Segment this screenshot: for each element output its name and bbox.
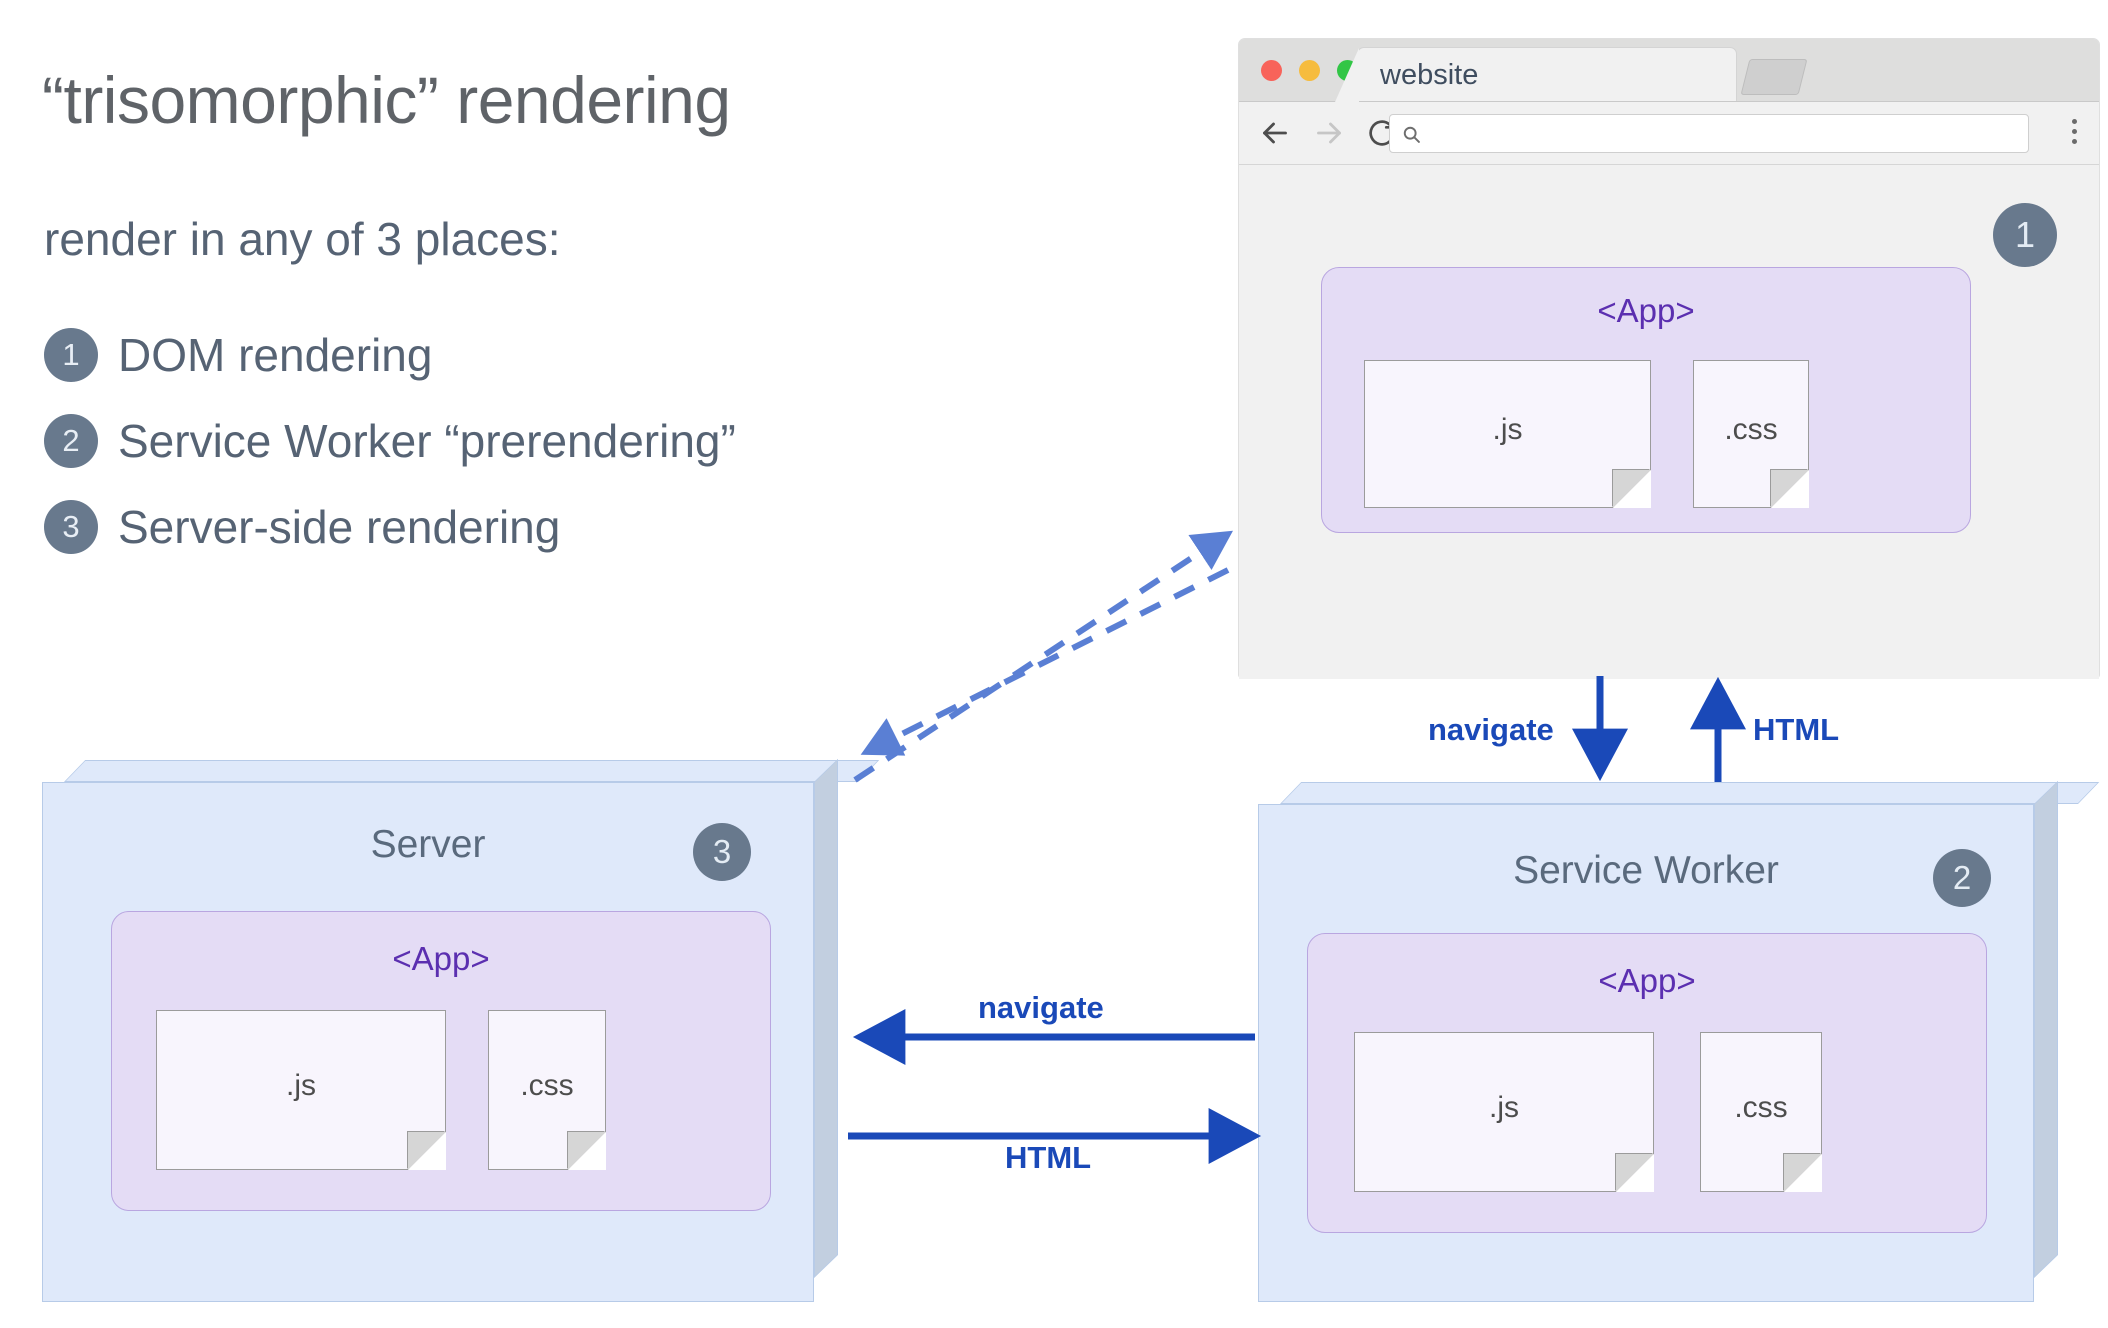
app-card-title: <App> (1308, 962, 1986, 1000)
js-file: .js (1354, 1032, 1654, 1192)
browser-toolbar (1239, 102, 2099, 165)
service-worker-title: Service Worker (1259, 849, 2033, 893)
box-top-face (1280, 782, 2099, 804)
service-worker-box: Service Worker 2 <App> .js .css (1258, 782, 2078, 1302)
page-fold-mask (1784, 1154, 1822, 1192)
minimize-window-icon[interactable] (1299, 60, 1320, 81)
server-step-badge: 3 (693, 823, 751, 881)
kebab-menu-icon[interactable] (2072, 119, 2077, 144)
back-arrow-icon[interactable] (1257, 115, 1293, 151)
css-file-label: .css (1701, 1091, 1821, 1125)
arrow-label-navigate-down: navigate (1428, 712, 1554, 748)
app-card-title: <App> (112, 940, 770, 978)
browser-tab-label: website (1380, 59, 1478, 92)
page-subtitle: render in any of 3 places: (44, 212, 561, 266)
js-file: .js (156, 1010, 446, 1170)
list-item-label: Service Worker “prerendering” (118, 414, 736, 468)
list-number-badge: 3 (44, 500, 98, 554)
box-side-face (814, 759, 838, 1278)
browser-tabbar: website (1239, 39, 2099, 102)
server-box: Server 3 <App> .js .css (42, 760, 862, 1300)
list-item: 3 Server-side rendering (44, 484, 1044, 570)
js-file-label: .js (1355, 1091, 1653, 1125)
list-item-label: DOM rendering (118, 328, 432, 382)
js-file-label: .js (1365, 413, 1650, 447)
arrow-label-html-up: HTML (1753, 712, 1839, 748)
js-file: .js (1364, 360, 1651, 508)
app-card-service-worker: <App> .js .css (1307, 933, 1987, 1233)
list-number-badge: 1 (44, 328, 98, 382)
browser-step-badge: 1 (1993, 203, 2057, 267)
search-icon (1401, 124, 1422, 150)
arrow-label-navigate-left: navigate (978, 990, 1104, 1026)
page-fold-mask (1616, 1154, 1654, 1192)
close-window-icon[interactable] (1261, 60, 1282, 81)
browser-tab[interactable]: website (1357, 47, 1737, 101)
page-fold-mask (408, 1132, 446, 1170)
page-fold-mask (568, 1132, 606, 1170)
browser-viewport: 1 <App> .js .css (1239, 165, 2099, 679)
css-file-label: .css (489, 1069, 605, 1103)
page-title: “trisomorphic” rendering (42, 62, 731, 138)
service-worker-step-badge: 2 (1933, 849, 1991, 907)
app-card-browser: <App> .js .css (1321, 267, 1971, 533)
url-bar[interactable] (1389, 114, 2029, 153)
page-fold-mask (1771, 470, 1809, 508)
box-side-face (2034, 781, 2058, 1278)
arrow-label-html-right: HTML (1005, 1140, 1091, 1176)
css-file: .css (1700, 1032, 1822, 1192)
box-front-face: Service Worker 2 <App> .js .css (1258, 804, 2034, 1302)
app-card-server: <App> .js .css (111, 911, 771, 1211)
css-file: .css (1693, 360, 1809, 508)
css-file-label: .css (1694, 413, 1808, 447)
box-top-face (64, 760, 879, 782)
list-item: 2 Service Worker “prerendering” (44, 398, 1044, 484)
arrow-dashed-browser-to-server (866, 570, 1228, 752)
page-fold-mask (1613, 470, 1651, 508)
render-places-list: 1 DOM rendering 2 Service Worker “preren… (44, 312, 1044, 570)
arrow-dashed-server-to-browser (855, 534, 1228, 780)
list-item-label: Server-side rendering (118, 500, 560, 554)
diagram-canvas: “trisomorphic” rendering render in any o… (0, 0, 2108, 1328)
list-item: 1 DOM rendering (44, 312, 1044, 398)
list-number-badge: 2 (44, 414, 98, 468)
box-front-face: Server 3 <App> .js .css (42, 782, 814, 1302)
browser-window: website (1238, 38, 2100, 678)
forward-arrow-icon[interactable] (1311, 115, 1347, 151)
css-file: .css (488, 1010, 606, 1170)
js-file-label: .js (157, 1069, 445, 1103)
navigation-icons (1257, 115, 1399, 151)
app-card-title: <App> (1322, 292, 1970, 330)
new-tab-icon[interactable] (1741, 59, 1808, 95)
